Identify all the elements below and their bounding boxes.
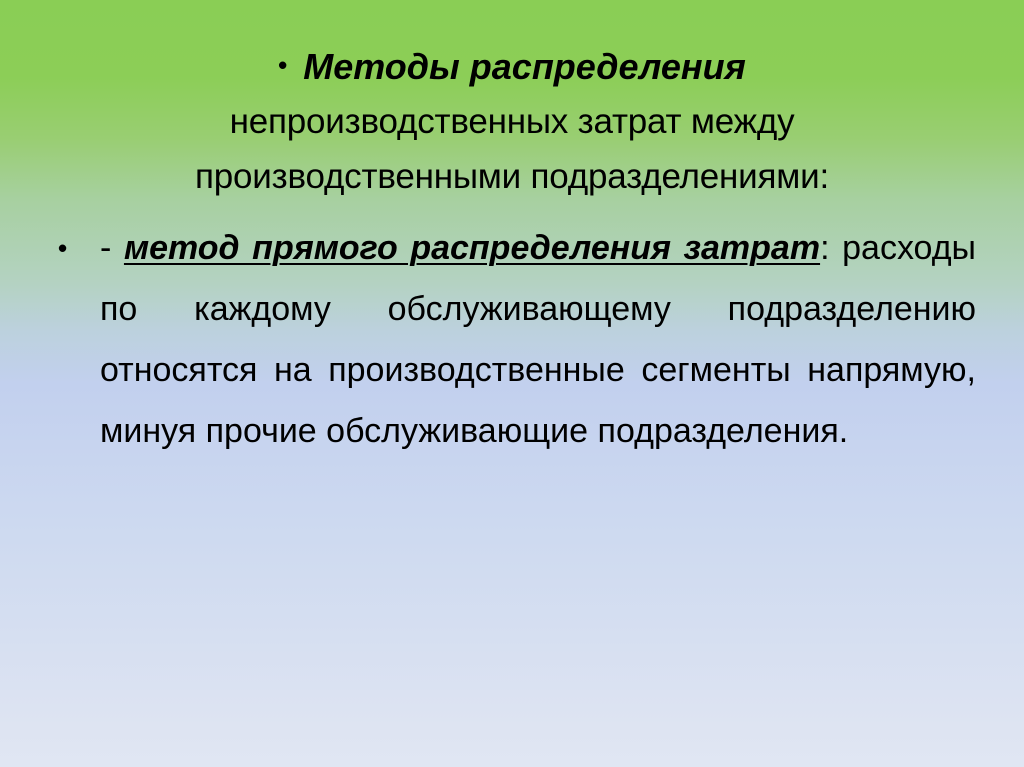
emphasized-term: метод прямого распределения затрат [124, 229, 820, 267]
body-dash: - [100, 229, 111, 267]
title-line-1: •Методы распределения [0, 38, 1024, 94]
term-colon: : [820, 229, 829, 267]
title-bullet-icon: • [278, 50, 287, 80]
body-block: • - метод прямого распределения затрат: … [100, 218, 976, 462]
slide-canvas: •Методы распределения непроизводственных… [0, 0, 1024, 767]
title-line-1-text: Методы распределения [303, 46, 746, 87]
body-paragraph: - метод прямого распределения затрат: ра… [100, 218, 976, 462]
title-block: •Методы распределения непроизводственных… [0, 38, 1024, 204]
body-bullet-icon: • [58, 218, 67, 279]
title-line-3: производственными подразделениями: [0, 149, 1024, 204]
title-line-2: непроизводственных затрат между [0, 94, 1024, 149]
